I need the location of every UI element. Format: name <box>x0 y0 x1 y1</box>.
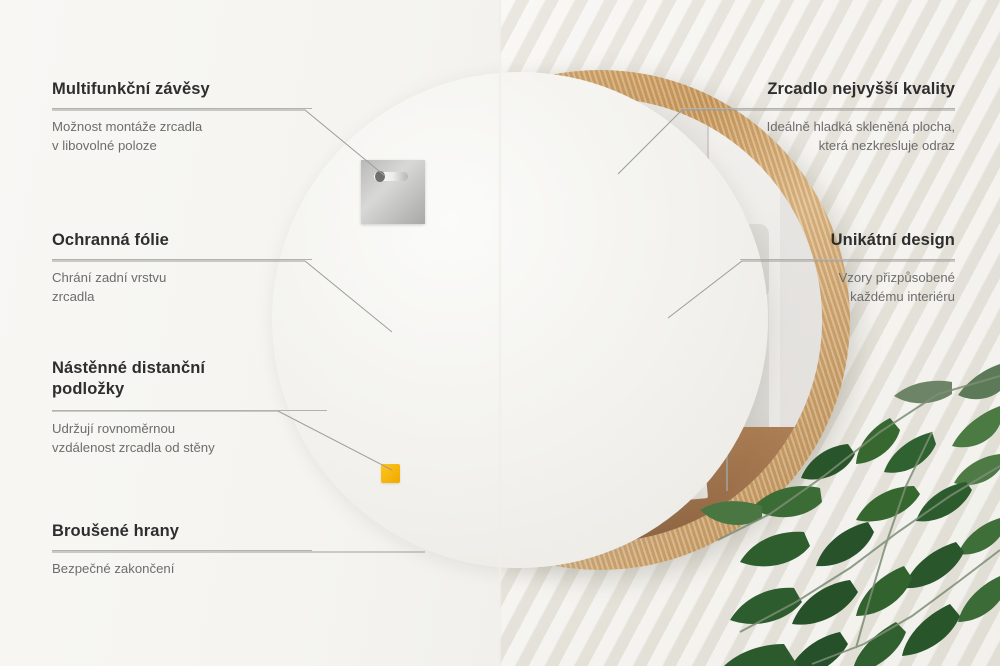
callout-wall-spacers: Nástěnné distanční podložky Udržují rovn… <box>52 358 327 457</box>
callout-protective-foil: Ochranná fólie Chrání zadní vrstvu zrcad… <box>52 231 312 306</box>
wall-hanger-plate-icon <box>361 160 425 224</box>
callout-body: Chrání zadní vrstvu zrcadla <box>52 269 312 306</box>
callout-rule <box>52 108 312 109</box>
callout-title: Broušené hrany <box>52 522 312 541</box>
callout-body: Udržují rovnoměrnou vzdálenost zrcadla o… <box>52 420 327 457</box>
callout-body: Možnost montáže zrcadla v libovolné polo… <box>52 118 312 155</box>
callout-rule <box>52 259 312 260</box>
callout-rule <box>52 410 327 411</box>
callout-title: Multifunkční závěsy <box>52 80 312 99</box>
wall-distance-pad-icon <box>381 464 400 483</box>
callout-body: Bezpečné zakončení <box>52 560 312 579</box>
panel-divider <box>498 0 502 666</box>
callout-ground-edges: Broušené hrany Bezpečné zakončení <box>52 522 312 579</box>
callout-unique-design: Unikátní design Vzory přizpůsobené každé… <box>740 231 955 306</box>
callout-rule <box>52 550 312 551</box>
callout-title: Nástěnné distanční podložky <box>52 358 327 401</box>
callout-title: Ochranná fólie <box>52 231 312 250</box>
callout-top-quality-mirror: Zrcadlo nejvyšší kvality Ideálně hladká … <box>680 80 955 155</box>
callout-rule <box>680 108 955 109</box>
infographic-canvas: Multifunkční závěsy Možnost montáže zrca… <box>0 0 1000 666</box>
callout-title: Unikátní design <box>740 231 955 250</box>
callout-multifunctional-hangers: Multifunkční závěsy Možnost montáže zrca… <box>52 80 312 155</box>
callout-title: Zrcadlo nejvyšší kvality <box>680 80 955 99</box>
callout-rule <box>740 259 955 260</box>
callout-body: Vzory přizpůsobené každému interiéru <box>740 269 955 306</box>
callout-body: Ideálně hladká skleněná plocha, která ne… <box>680 118 955 155</box>
keyhole-slot-icon <box>374 172 408 181</box>
